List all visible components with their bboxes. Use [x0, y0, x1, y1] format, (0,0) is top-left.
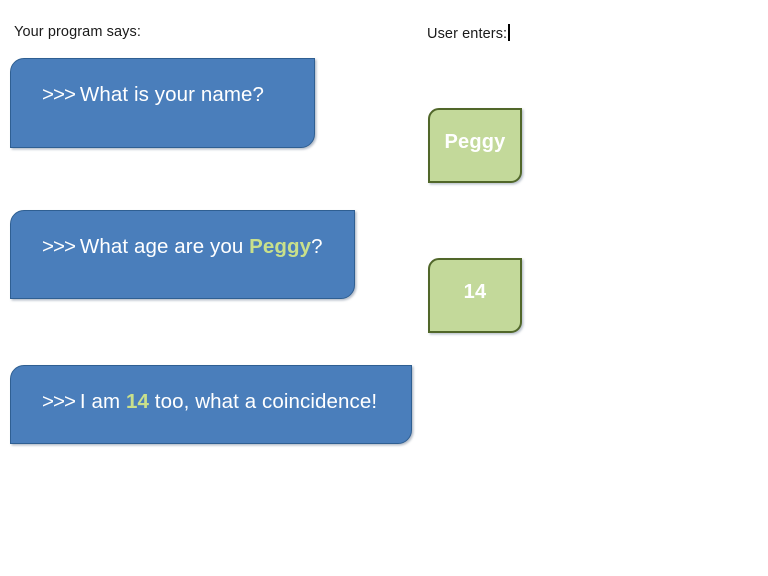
user-input-value-1: Peggy	[430, 132, 520, 152]
program-output-text-3: >>>I am 14 too, what a coincidence!	[11, 366, 377, 413]
program-output-bubble-1: >>>What is your name?	[10, 58, 315, 148]
text-cursor-icon	[508, 24, 510, 41]
program-output-after-3: too, what a coincidence!	[149, 390, 377, 413]
prompt-chevrons-icon-2: >>>	[42, 235, 75, 258]
program-output-text-1: >>>What is your name?	[11, 59, 264, 106]
program-column-caption: Your program says:	[14, 24, 141, 40]
program-output-before-2: What age are you	[80, 235, 249, 258]
program-output-before-1: What is your name?	[80, 83, 264, 106]
user-input-box-2[interactable]: 14	[428, 258, 522, 333]
program-output-bubble-2: >>>What age are you Peggy?	[10, 210, 355, 299]
slide-canvas: Your program says: User enters: >>>What …	[0, 0, 768, 576]
program-output-highlight-2: Peggy	[249, 235, 311, 258]
user-input-box-1[interactable]: Peggy	[428, 108, 522, 183]
user-column-caption-text: User enters:	[427, 26, 507, 42]
program-column-caption-text: Your program says:	[14, 24, 141, 40]
program-output-bubble-3: >>>I am 14 too, what a coincidence!	[10, 365, 412, 444]
program-output-highlight-3: 14	[126, 390, 149, 413]
prompt-chevrons-icon-1: >>>	[42, 83, 75, 106]
program-output-after-2: ?	[311, 235, 323, 258]
prompt-chevrons-icon-3: >>>	[42, 390, 75, 413]
program-output-text-2: >>>What age are you Peggy?	[11, 211, 323, 258]
user-input-value-2: 14	[430, 282, 520, 302]
program-output-before-3: I am	[80, 390, 126, 413]
user-column-caption: User enters:	[427, 24, 510, 42]
